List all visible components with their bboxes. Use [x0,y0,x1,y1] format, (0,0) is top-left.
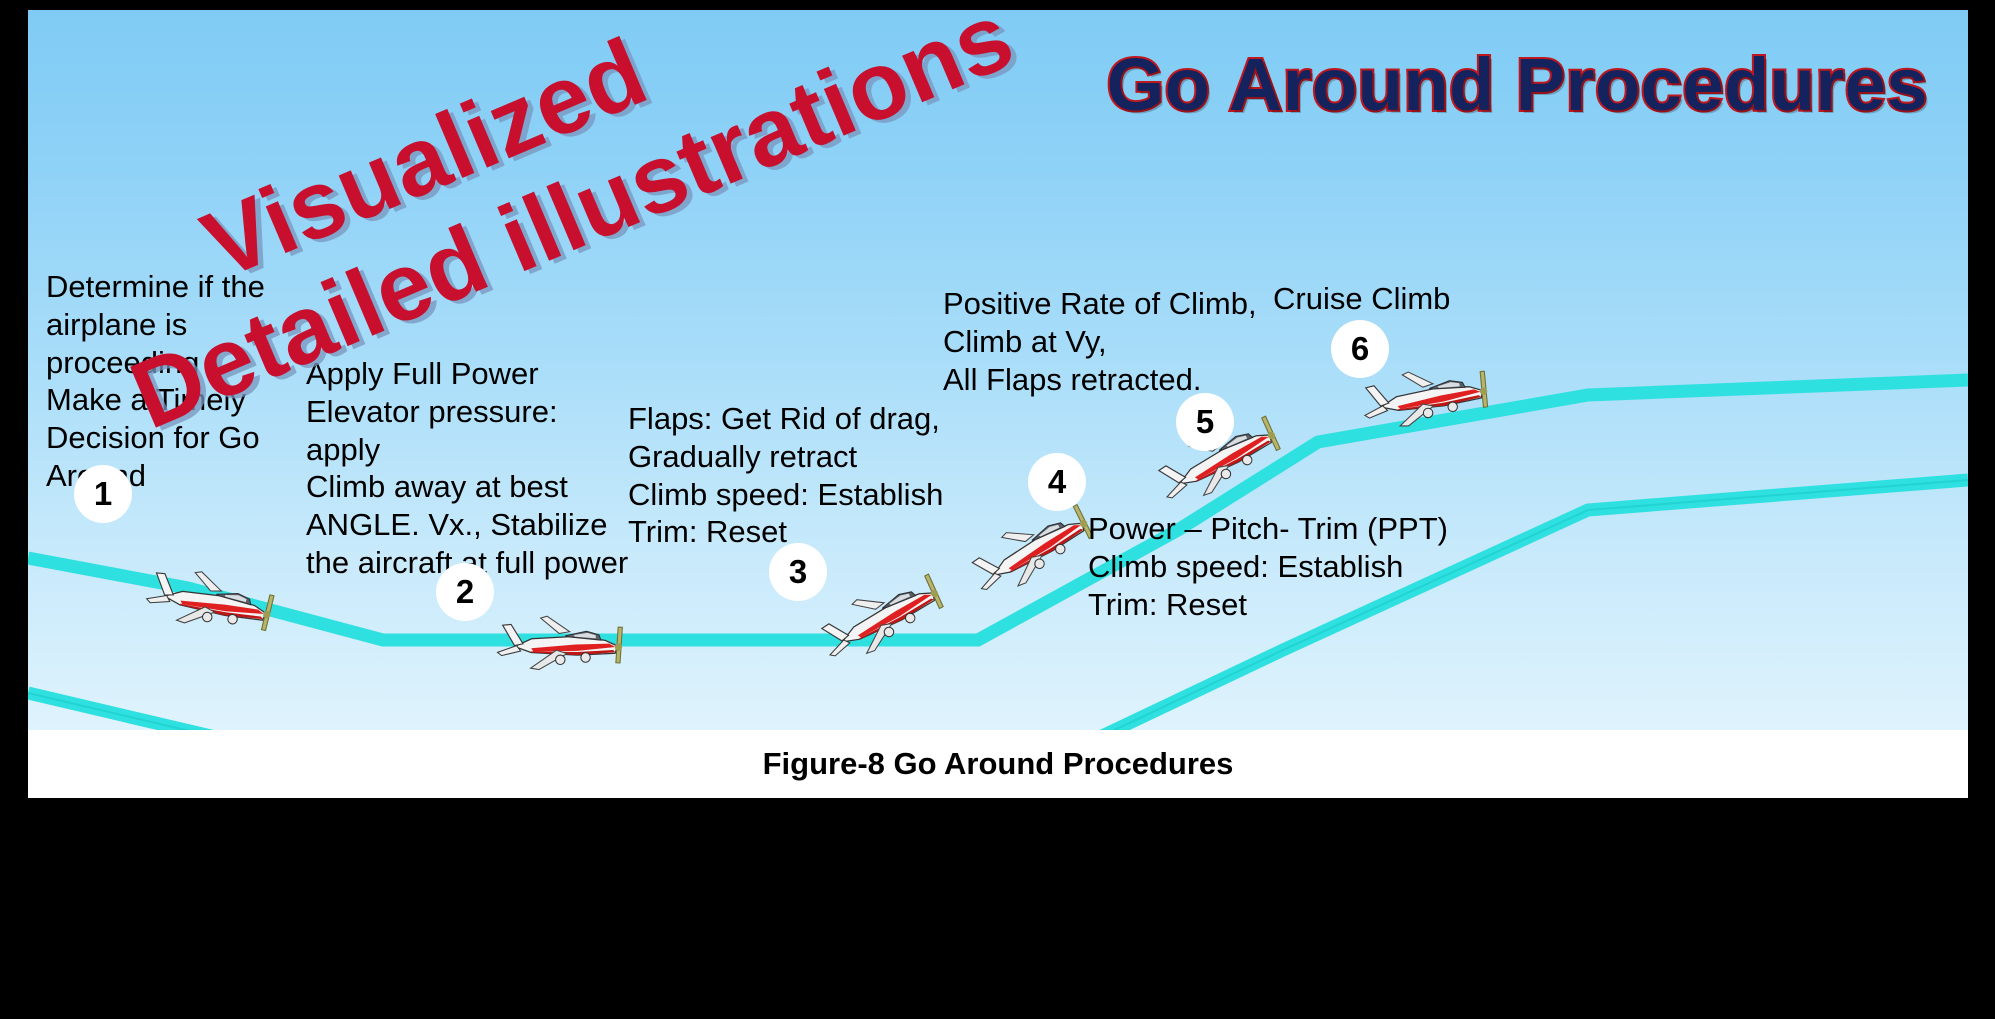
step-3-text: Flaps: Get Rid of drag, Gradually retrac… [628,400,978,551]
step-badge-5: 5 [1176,393,1234,451]
step-2-text: Apply Full Power Elevator pressure: appl… [306,355,646,582]
page-title: Go Around Procedures [1107,42,1928,127]
aircraft-2 [497,615,623,673]
sky-background: Go Around Procedures Determine if the ai… [28,10,1968,730]
step-5-text: Positive Rate of Climb, Climb at Vy, All… [943,285,1273,398]
step-badge-6: 6 [1331,320,1389,378]
step-badge-4: 4 [1028,453,1086,511]
aircraft-3 [813,566,948,669]
figure-canvas: Go Around Procedures Determine if the ai… [0,0,1995,1019]
step-badge-1: 1 [74,465,132,523]
step-badge-2: 2 [436,563,494,621]
step-6-text: Cruise Climb [1273,280,1533,318]
step-badge-3: 3 [769,543,827,601]
step-1-text: Determine if the airplane is proceeding … [46,268,346,495]
step-4-text: Power – Pitch- Trim (PPT) Climb speed: E… [1088,510,1508,623]
figure-caption: Figure-8 Go Around Procedures [28,730,1968,798]
